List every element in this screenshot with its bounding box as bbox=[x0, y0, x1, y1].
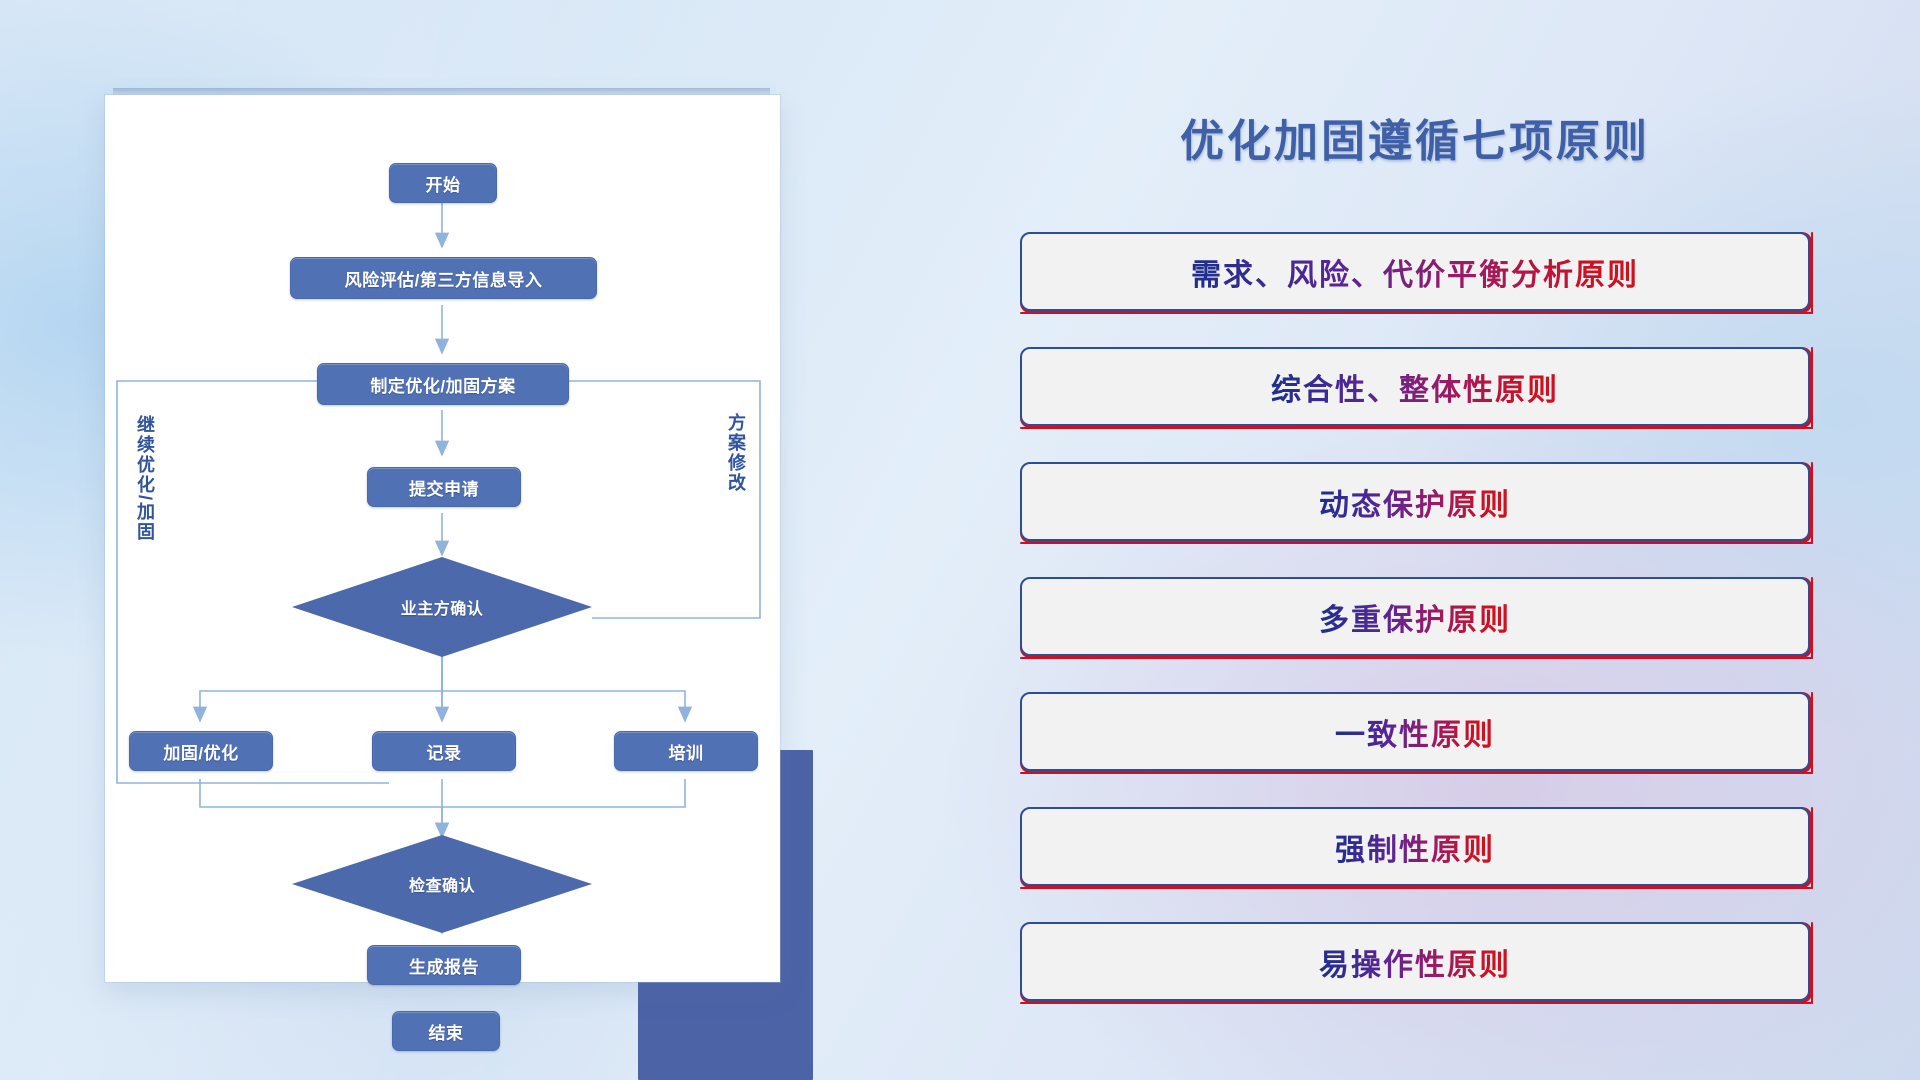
flow-edge-label-left: 继续优化/加固 bbox=[132, 415, 158, 542]
principle-label: 综合性、整体性原则 bbox=[1271, 365, 1559, 409]
principle-card-1[interactable]: 需求、风险、代价平衡分析原则 bbox=[1020, 232, 1810, 311]
flow-node-label: 业主方确认 bbox=[401, 595, 484, 619]
principle-label: 一致性原则 bbox=[1335, 710, 1495, 754]
principle-label: 动态保护原则 bbox=[1319, 480, 1511, 524]
flow-node-label: 结束 bbox=[429, 1019, 464, 1044]
flow-node-generate-report[interactable]: 生成报告 bbox=[367, 945, 521, 985]
principle-card-5[interactable]: 一致性原则 bbox=[1020, 692, 1810, 771]
flow-node-training[interactable]: 培训 bbox=[614, 731, 758, 771]
principle-label: 强制性原则 bbox=[1335, 825, 1495, 869]
flow-node-end[interactable]: 结束 bbox=[392, 1011, 500, 1051]
flow-node-label: 加固/优化 bbox=[163, 739, 238, 764]
principle-card-4[interactable]: 多重保护原则 bbox=[1020, 577, 1810, 656]
flow-node-start[interactable]: 开始 bbox=[389, 163, 497, 203]
flow-node-submit[interactable]: 提交申请 bbox=[367, 467, 521, 507]
flow-node-plan[interactable]: 制定优化/加固方案 bbox=[317, 363, 569, 405]
principles-list: 需求、风险、代价平衡分析原则 综合性、整体性原则 动态保护原则 多重保护原则 一… bbox=[1020, 232, 1810, 1037]
principle-card-6[interactable]: 强制性原则 bbox=[1020, 807, 1810, 886]
flow-node-label: 生成报告 bbox=[409, 953, 479, 978]
flow-node-record[interactable]: 记录 bbox=[372, 731, 516, 771]
flow-node-label: 制定优化/加固方案 bbox=[370, 372, 515, 397]
principle-card-3[interactable]: 动态保护原则 bbox=[1020, 462, 1810, 541]
flow-node-reinforce[interactable]: 加固/优化 bbox=[129, 731, 273, 771]
principle-label: 需求、风险、代价平衡分析原则 bbox=[1191, 250, 1639, 294]
flow-node-label: 开始 bbox=[426, 171, 461, 196]
flow-node-check-confirm[interactable]: 检查确认 bbox=[292, 835, 592, 933]
principle-card-2[interactable]: 综合性、整体性原则 bbox=[1020, 347, 1810, 426]
flow-edge-label-right: 方案修改 bbox=[723, 413, 749, 493]
principles-panel: 优化加固遵循七项原则 需求、风险、代价平衡分析原则 综合性、整体性原则 动态保护… bbox=[1020, 0, 1920, 1080]
flow-node-label: 提交申请 bbox=[409, 475, 479, 500]
principles-title: 优化加固遵循七项原则 bbox=[1020, 105, 1810, 169]
flowchart-card: 开始 风险评估/第三方信息导入 制定优化/加固方案 提交申请 业主方确认 加固/… bbox=[105, 95, 780, 982]
principle-card-7[interactable]: 易操作性原则 bbox=[1020, 922, 1810, 1001]
flow-node-label: 培训 bbox=[669, 739, 704, 764]
flow-node-label: 风险评估/第三方信息导入 bbox=[345, 266, 543, 291]
flow-node-label: 记录 bbox=[427, 739, 462, 764]
flowchart-panel: 开始 风险评估/第三方信息导入 制定优化/加固方案 提交申请 业主方确认 加固/… bbox=[105, 95, 795, 995]
flow-node-owner-confirm[interactable]: 业主方确认 bbox=[292, 557, 592, 657]
flow-node-label: 检查确认 bbox=[409, 872, 475, 896]
principle-label: 易操作性原则 bbox=[1319, 940, 1511, 984]
principle-label: 多重保护原则 bbox=[1319, 595, 1511, 639]
flow-node-risk-assessment[interactable]: 风险评估/第三方信息导入 bbox=[290, 257, 597, 299]
